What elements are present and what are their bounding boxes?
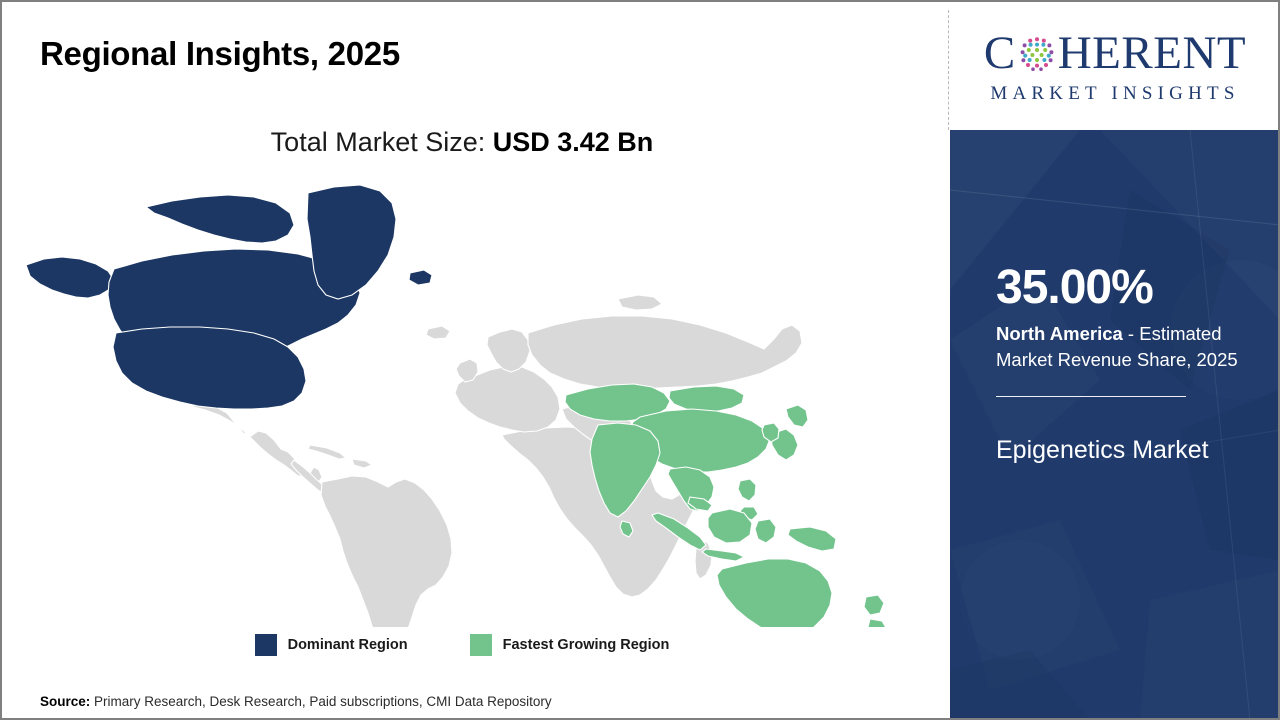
stat-region-name: North America (996, 323, 1123, 344)
map-region-scandinavia (487, 329, 530, 372)
logo-letter-c: C (984, 30, 1016, 77)
market-size-value: USD 3.42 Bn (493, 127, 654, 157)
stat-description: North America - Estimated Market Revenue… (996, 321, 1246, 374)
market-size-label: Total Market Size: (271, 127, 493, 157)
source-note: Source: Primary Research, Desk Research,… (40, 694, 552, 709)
map-region-greenland (307, 185, 396, 299)
source-label: Source: (40, 694, 90, 709)
stat-panel-content: 35.00% North America - Estimated Market … (996, 264, 1246, 468)
legend-swatch-dominant-icon (255, 634, 277, 656)
legend-item-dominant: Dominant Region (255, 634, 408, 656)
dotted-globe-icon (1017, 33, 1057, 73)
source-text: Primary Research, Desk Research, Paid su… (90, 694, 551, 709)
total-market-size: Total Market Size: USD 3.42 Bn (2, 127, 922, 158)
stat-panel: 35.00% North America - Estimated Market … (950, 130, 1280, 720)
stat-percent-value: 35.00% (996, 264, 1246, 312)
legend-swatch-growing-icon (470, 634, 492, 656)
map-region-arctic-islands (618, 295, 662, 310)
map-region-russia (528, 316, 802, 389)
map-region-south-america (321, 476, 452, 627)
map-region-iceland (426, 326, 450, 339)
map-region-alaska (26, 257, 114, 298)
market-name: Epigenetics Market (996, 433, 1246, 468)
map-region-borneo (708, 509, 752, 543)
vertical-dashed-divider (948, 10, 949, 130)
map-region-mongolia (669, 386, 744, 411)
map-content-pane: Regional Insights, 2025 Total Market Siz… (2, 2, 950, 718)
logo-subline: MARKET INSIGHTS (990, 83, 1239, 105)
map-region-hispaniola (352, 459, 372, 468)
map-region-cuba (308, 445, 346, 459)
map-region-papua-new-guinea (788, 527, 836, 551)
legend-item-fastest-growing: Fastest Growing Region (470, 634, 670, 656)
brand-logo: C (960, 16, 1270, 118)
regional-insights-infographic: Regional Insights, 2025 Total Market Siz… (0, 0, 1280, 720)
world-map-container (22, 177, 902, 627)
map-region-australia (717, 559, 832, 627)
panel-divider-rule (996, 396, 1186, 398)
logo-wordmark: C (984, 30, 1246, 77)
map-region-sulawesi (755, 519, 776, 543)
legend-label-fastest-growing: Fastest Growing Region (503, 637, 670, 653)
map-legend: Dominant Region Fastest Growing Region (2, 634, 922, 656)
map-region-iceland-dominant (409, 270, 432, 285)
legend-label-dominant: Dominant Region (288, 637, 408, 653)
world-map (22, 177, 902, 627)
logo-letters-herent: HERENT (1058, 30, 1246, 77)
map-region-canada-arctic (146, 195, 294, 243)
page-title: Regional Insights, 2025 (40, 35, 400, 73)
map-region-new-zealand (864, 595, 888, 627)
